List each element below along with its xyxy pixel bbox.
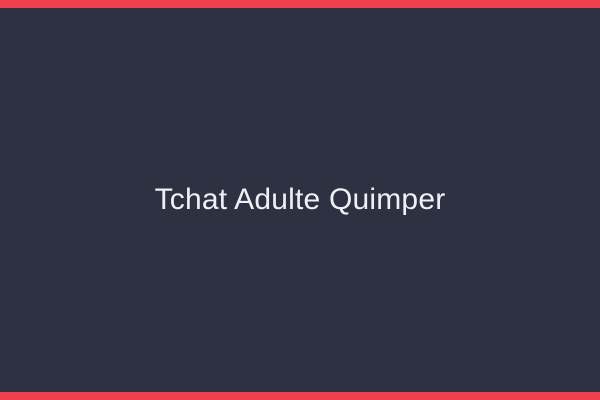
top-accent-bar	[0, 0, 600, 8]
page-title: Tchat Adulte Quimper	[131, 182, 470, 218]
placeholder-card: Tchat Adulte Quimper	[0, 0, 600, 400]
bottom-accent-bar	[0, 392, 600, 400]
